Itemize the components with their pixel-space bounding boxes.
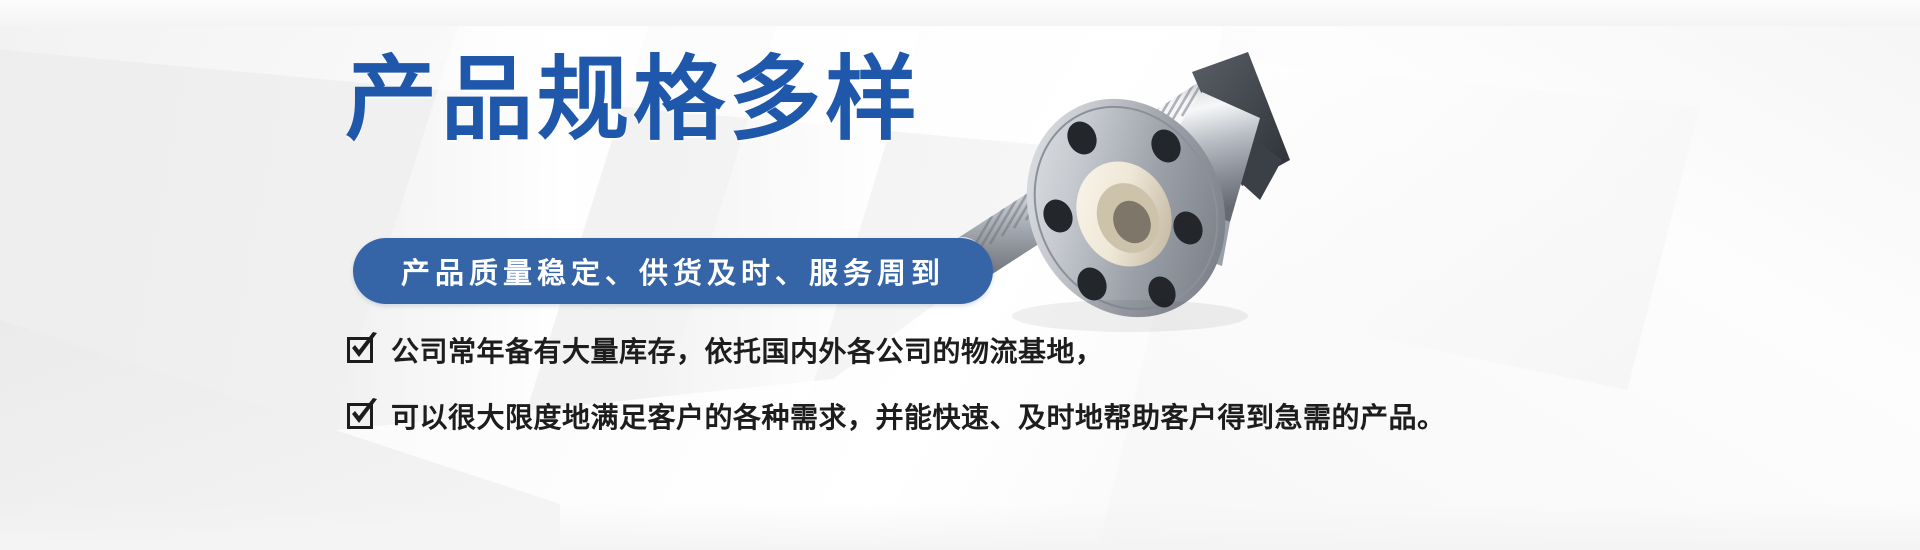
checkbox-check-icon bbox=[347, 335, 377, 365]
tagline-pill: 产品质量稳定、供货及时、服务周到 bbox=[353, 238, 993, 304]
promo-banner: 产品规格多样 产品质量稳定、供货及时、服务周到 公司常年备有大量库存，依托国内外… bbox=[0, 0, 1920, 550]
list-item-label: 可以很大限度地满足客户的各种需求，并能快速、及时地帮助客户得到急需的产品。 bbox=[391, 396, 1446, 436]
tagline-text: 产品质量稳定、供货及时、服务周到 bbox=[401, 250, 945, 292]
checkbox-check-icon bbox=[347, 401, 377, 431]
list-item: 公司常年备有大量库存，依托国内外各公司的物流基地， bbox=[347, 330, 1587, 370]
banner-content: 产品规格多样 产品质量稳定、供货及时、服务周到 公司常年备有大量库存，依托国内外… bbox=[345, 0, 1595, 550]
page-title: 产品规格多样 bbox=[345, 52, 921, 149]
list-item: 可以很大限度地满足客户的各种需求，并能快速、及时地帮助客户得到急需的产品。 bbox=[347, 396, 1587, 436]
feature-list: 公司常年备有大量库存，依托国内外各公司的物流基地， 可以很大限度地满足客户的各种… bbox=[347, 330, 1587, 462]
list-item-label: 公司常年备有大量库存，依托国内外各公司的物流基地， bbox=[391, 330, 1104, 370]
